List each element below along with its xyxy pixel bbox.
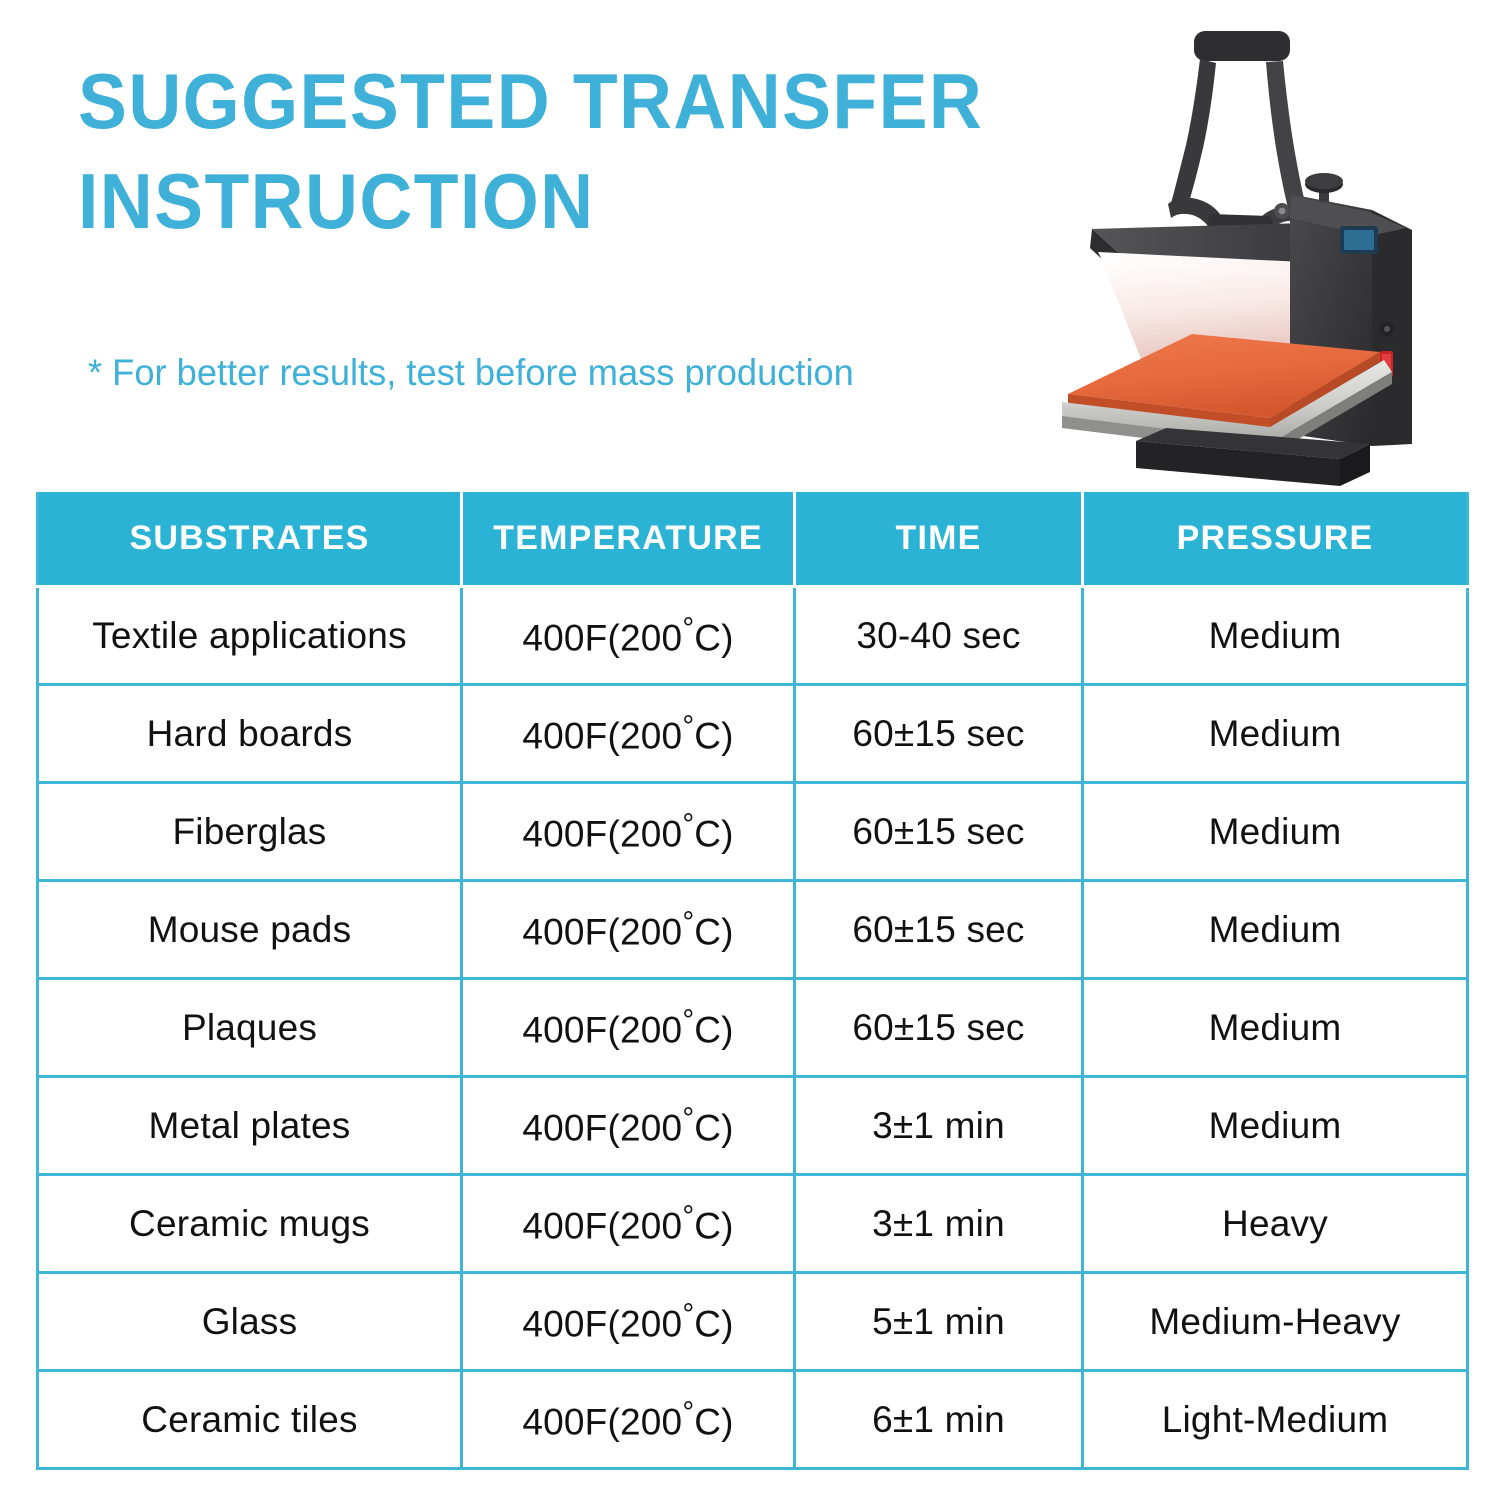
table-header-row: SUBSTRATES TEMPERATURE TIME PRESSURE (38, 492, 1468, 587)
cell-temperature: 400F(200°C) (462, 979, 795, 1077)
cell-pressure: Medium (1083, 685, 1468, 783)
cell-temperature: 400F(200°C) (462, 1175, 795, 1273)
table-row: Mouse pads400F(200°C)60±15 secMedium (38, 881, 1468, 979)
heat-press-machine-image (1040, 4, 1500, 494)
cell-pressure: Medium (1083, 979, 1468, 1077)
cell-time: 60±15 sec (795, 685, 1083, 783)
cell-substrate: Metal plates (38, 1077, 462, 1175)
press-handle-group (1168, 31, 1307, 242)
cell-temperature: 400F(200°C) (462, 881, 795, 979)
cell-time: 6±1 min (795, 1371, 1083, 1469)
cell-substrate: Textile applications (38, 587, 462, 685)
table-row: Glass400F(200°C)5±1 minMedium-Heavy (38, 1273, 1468, 1371)
cell-substrate: Plaques (38, 979, 462, 1077)
page-subtitle: * For better results, test before mass p… (88, 352, 854, 394)
cell-time: 3±1 min (795, 1175, 1083, 1273)
cell-substrate: Ceramic mugs (38, 1175, 462, 1273)
cell-temperature: 400F(200°C) (462, 1077, 795, 1175)
cell-pressure: Heavy (1083, 1175, 1468, 1273)
column-header-pressure: PRESSURE (1083, 492, 1468, 587)
table-row: Ceramic tiles400F(200°C)6±1 minLight-Med… (38, 1371, 1468, 1469)
cell-substrate: Fiberglas (38, 783, 462, 881)
cell-time: 3±1 min (795, 1077, 1083, 1175)
page-title: SUGGESTED TRANSFER INSTRUCTION (78, 52, 999, 252)
table-row: Fiberglas400F(200°C)60±15 secMedium (38, 783, 1468, 881)
transfer-spec-table: SUBSTRATES TEMPERATURE TIME PRESSURE Tex… (36, 492, 1469, 1470)
column-header-time: TIME (795, 492, 1083, 587)
cell-pressure: Medium (1083, 1077, 1468, 1175)
table-row: Plaques400F(200°C)60±15 secMedium (38, 979, 1468, 1077)
cell-substrate: Glass (38, 1273, 462, 1371)
cell-temperature: 400F(200°C) (462, 587, 795, 685)
cell-substrate: Hard boards (38, 685, 462, 783)
table-row: Ceramic mugs400F(200°C)3±1 minHeavy (38, 1175, 1468, 1273)
cell-substrate: Ceramic tiles (38, 1371, 462, 1469)
table-row: Hard boards400F(200°C)60±15 secMedium (38, 685, 1468, 783)
cell-substrate: Mouse pads (38, 881, 462, 979)
table-row: Textile applications400F(200°C)30-40 sec… (38, 587, 1468, 685)
cell-time: 60±15 sec (795, 783, 1083, 881)
column-header-substrates: SUBSTRATES (38, 492, 462, 587)
cell-temperature: 400F(200°C) (462, 783, 795, 881)
cell-temperature: 400F(200°C) (462, 1371, 795, 1469)
cell-time: 5±1 min (795, 1273, 1083, 1371)
cell-pressure: Light-Medium (1083, 1371, 1468, 1469)
cell-pressure: Medium (1083, 881, 1468, 979)
adjustment-knob (1305, 173, 1343, 202)
cell-pressure: Medium (1083, 587, 1468, 685)
header-block: SUGGESTED TRANSFER INSTRUCTION (78, 52, 1058, 252)
cell-time: 60±15 sec (795, 979, 1083, 1077)
table-row: Metal plates400F(200°C)3±1 minMedium (38, 1077, 1468, 1175)
cell-time: 30-40 sec (795, 587, 1083, 685)
column-header-temperature: TEMPERATURE (462, 492, 795, 587)
cell-pressure: Medium-Heavy (1083, 1273, 1468, 1371)
cell-pressure: Medium (1083, 783, 1468, 881)
cell-temperature: 400F(200°C) (462, 1273, 795, 1371)
cell-temperature: 400F(200°C) (462, 685, 795, 783)
cell-time: 60±15 sec (795, 881, 1083, 979)
